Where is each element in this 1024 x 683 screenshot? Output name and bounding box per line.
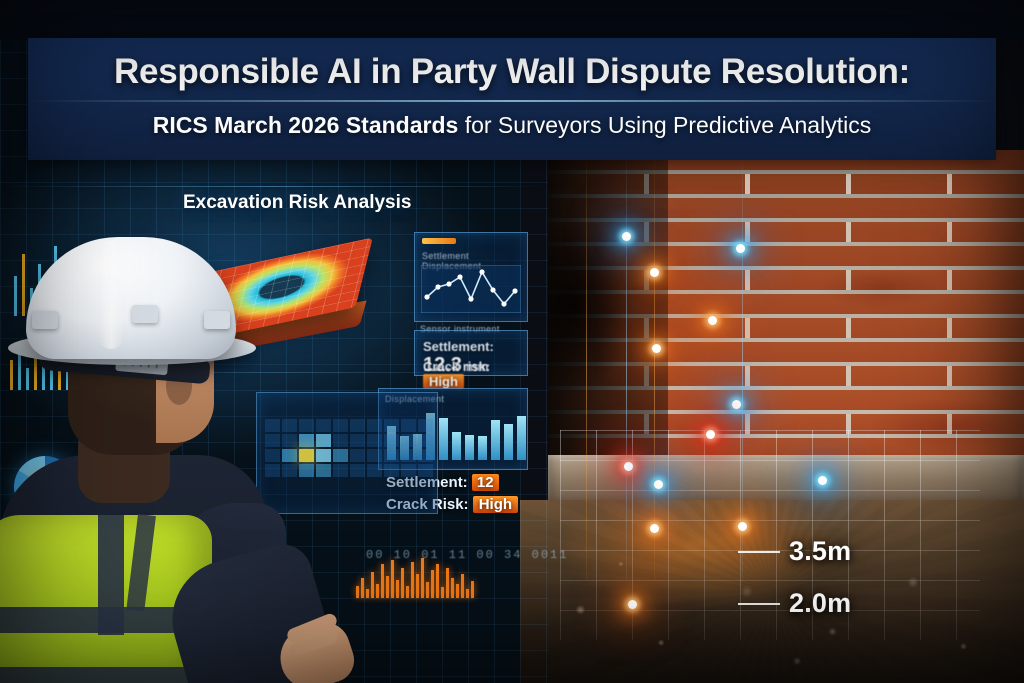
top-risk-label: Crack risk: <box>423 359 490 374</box>
top-risk-value: High <box>423 374 464 389</box>
vest-band-horizontal-2 <box>0 667 212 683</box>
bottom-risk-value: High <box>473 496 518 513</box>
banner-sheen <box>28 100 996 102</box>
sensor-dot-red-2 <box>706 430 715 439</box>
sensor-dot-orange-5 <box>738 522 747 531</box>
seismograph-waveform <box>356 560 546 616</box>
sensor-dot-orange-2 <box>708 316 717 325</box>
hard-hat-clip-right <box>132 305 158 323</box>
depth-tick-lower <box>738 603 780 605</box>
sensor-dot-orange-4 <box>650 524 659 533</box>
surveyor-figure <box>0 155 300 683</box>
page-subtitle-strong: RICS March 2026 Standards <box>153 112 459 138</box>
top-risk-row: Crack risk: High <box>423 359 527 389</box>
top-readout-panel[interactable]: Settlement: 12.3 mm Crack risk: High <box>414 330 528 376</box>
hard-hat-ridge <box>98 241 124 349</box>
page-title: Responsible AI in Party Wall Dispute Res… <box>0 52 1024 92</box>
sensor-dot-cyan-2 <box>736 244 745 253</box>
poster-canvas: 3.5m 2.0m 00 10 01 11 00 34 0011 Excavat… <box>0 0 1024 683</box>
depth-tick-upper <box>738 551 780 553</box>
scan-line-3 <box>742 150 743 580</box>
sensor-dot-orange-3 <box>652 344 661 353</box>
hard-hat-clip-left <box>32 311 58 329</box>
sensor-dot-cyan-5 <box>818 476 827 485</box>
hard-hat-clip-side <box>204 311 230 329</box>
sensor-dot-orange-6 <box>628 600 637 609</box>
scan-line-2 <box>654 150 655 580</box>
bottom-settlement-value: 12 <box>472 474 499 491</box>
page-subtitle: RICS March 2026 Standards for Surveyors … <box>0 112 1024 139</box>
depth-label-upper: 3.5m <box>789 536 851 567</box>
telemetry-digits: 00 10 01 11 00 34 0011 <box>366 548 568 562</box>
hard-hat <box>26 237 236 359</box>
trend-status-bar <box>422 238 456 244</box>
sensor-dot-cyan-4 <box>732 400 741 409</box>
settlement-trend-panel[interactable]: Settlement Displacement <box>414 232 528 322</box>
scan-line-4 <box>586 150 587 580</box>
top-band <box>0 0 1024 40</box>
brick-wall-damage-zone <box>548 150 668 495</box>
depth-marker-upper: 3.5m <box>738 536 851 567</box>
sensor-dot-cyan-3 <box>654 480 663 489</box>
depth-marker-lower: 2.0m <box>738 588 851 619</box>
settlement-line-chart <box>421 265 521 313</box>
top-settlement-label: Settlement: <box>423 339 494 354</box>
sensor-dot-cyan-1 <box>622 232 631 241</box>
sensor-dot-orange-1 <box>650 268 659 277</box>
depth-label-lower: 2.0m <box>789 588 851 619</box>
scan-line-1 <box>626 150 627 580</box>
page-subtitle-rest: for Surveyors Using Predictive Analytics <box>458 112 871 138</box>
sensor-dot-red-1 <box>624 462 633 471</box>
